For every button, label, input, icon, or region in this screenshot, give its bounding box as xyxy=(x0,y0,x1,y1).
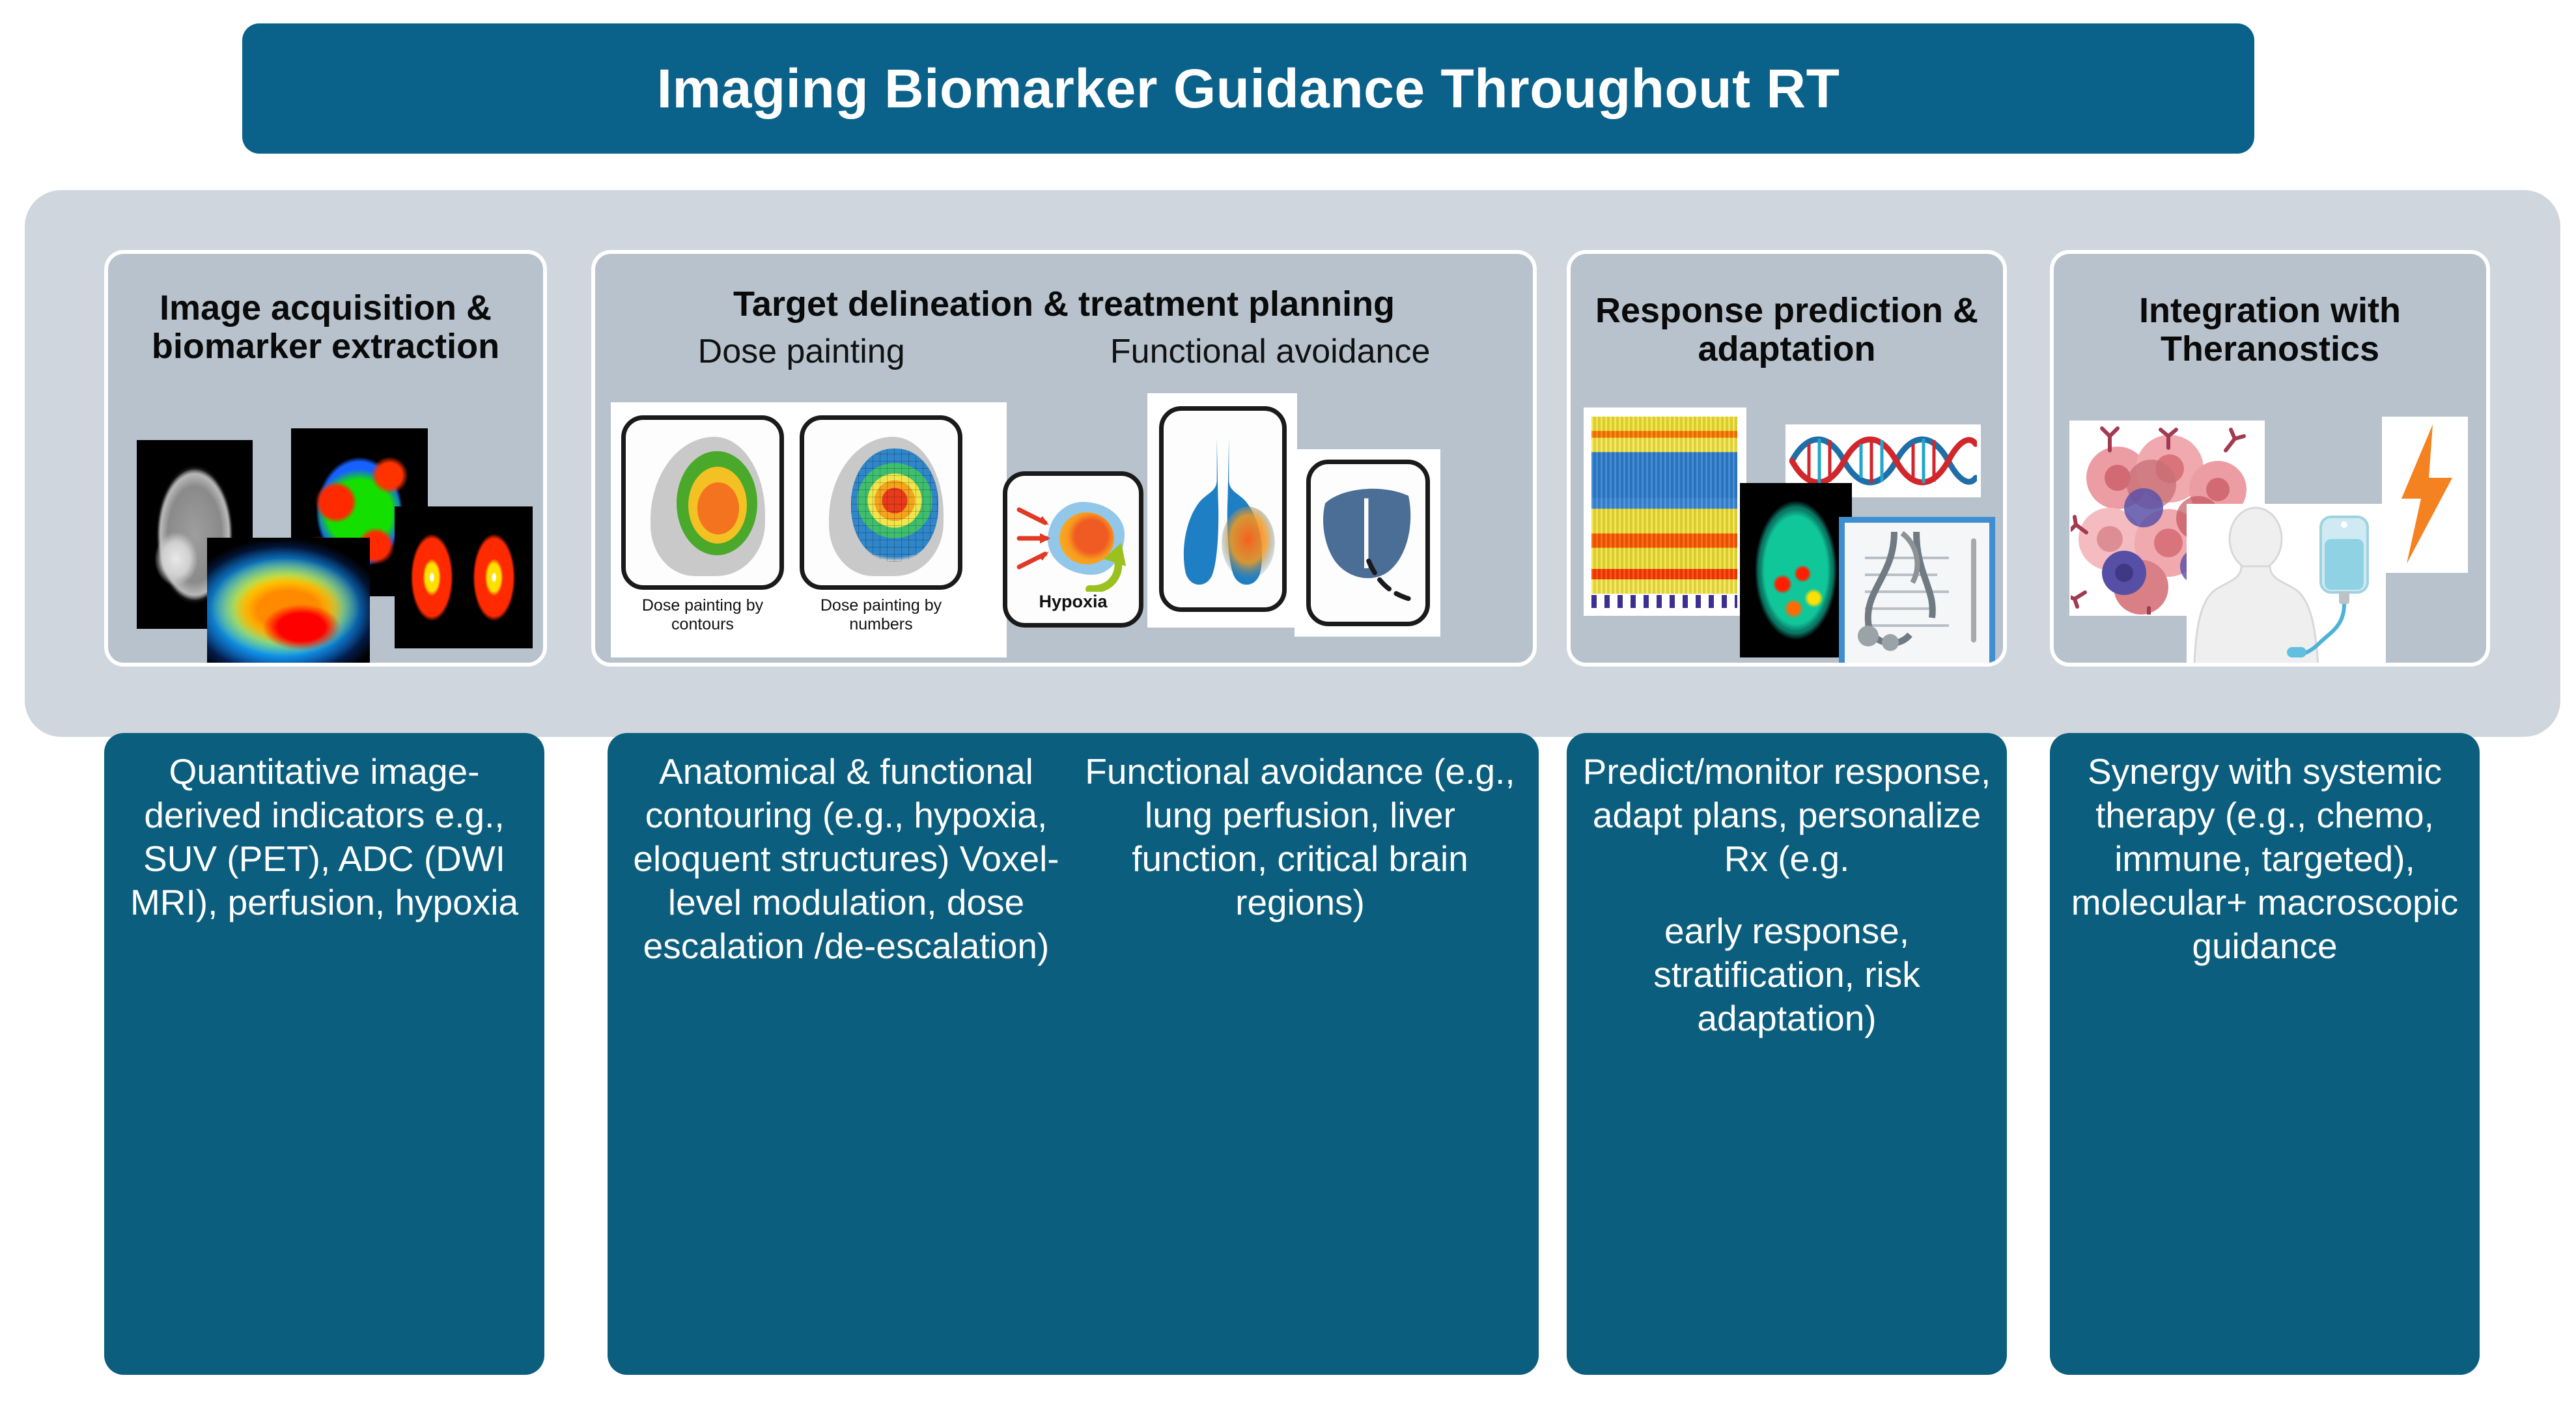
clipboard-stethoscope-icon xyxy=(1839,517,1995,667)
description-box-target-delineation: Anatomical & functional contouring (e.g.… xyxy=(608,733,1539,1375)
liver-function-icon xyxy=(1306,460,1430,626)
stage-subheadings-row: Dose painting Functional avoidance xyxy=(595,332,1533,371)
lung-perfusion-icon xyxy=(1159,406,1287,612)
pet-suv-heatmap-image xyxy=(207,538,370,667)
stage-card-target-delineation: Target delineation & treatment planning … xyxy=(591,250,1537,667)
description-text: Functional avoidance (e.g., lung perfusi… xyxy=(1082,750,1518,924)
page-title: Imaging Biomarker Guidance Throughout RT xyxy=(657,57,1840,120)
tile-caption-dose-painting-contours: Dose painting by contours xyxy=(621,596,784,634)
description-box-theranostics: Synergy with systemic therapy (e.g., che… xyxy=(2050,733,2480,1375)
hypoxia-tumor-icon: Hypoxia xyxy=(1003,471,1143,628)
stage-heading-image-acquisition: Image acquisition & biomarker extraction xyxy=(108,254,543,366)
tile-caption-hypoxia: Hypoxia xyxy=(1039,592,1107,611)
description-column-functional-avoidance: Functional avoidance (e.g., lung perfusi… xyxy=(1073,750,1527,1362)
description-text: Predict/monitor response, adapt plans, p… xyxy=(1578,750,1995,881)
subheading-dose-painting: Dose painting xyxy=(698,332,905,371)
uptake-arrow-icon xyxy=(1080,536,1132,592)
heatmap-annotation-bar xyxy=(1591,595,1737,608)
description-text: Quantitative image-derived indicators e.… xyxy=(116,750,533,924)
description-column-dose-painting: Anatomical & functional contouring (e.g.… xyxy=(619,750,1073,1362)
diagram-title-bar: Imaging Biomarker Guidance Throughout RT xyxy=(242,23,2254,154)
description-text-secondary: early response, stratification, risk ada… xyxy=(1578,909,1995,1040)
patient-infusion-icon xyxy=(2191,505,2385,665)
radiation-bolt-icon xyxy=(2390,422,2461,566)
tile-caption-dose-painting-numbers: Dose painting by numbers xyxy=(800,596,962,634)
description-text: Anatomical & functional contouring (e.g.… xyxy=(628,750,1064,968)
radiomics-heatmap-image xyxy=(1591,417,1737,594)
lung-perfusion-pet-image xyxy=(395,506,533,648)
head-dose-voxel-icon xyxy=(800,415,962,590)
head-dose-contour-icon xyxy=(621,415,784,590)
stage-heading-response-prediction: Response prediction & adaptation xyxy=(1571,254,2003,369)
stage-card-theranostics: Integration with Theranostics xyxy=(2050,250,2490,667)
description-box-response-prediction: Predict/monitor response, adapt plans, p… xyxy=(1567,733,2007,1375)
pet-head-neck-image xyxy=(1740,483,1852,657)
radiation-arrows-icon xyxy=(1015,501,1057,576)
subheading-functional-avoidance: Functional avoidance xyxy=(1110,332,1430,371)
stage-heading-theranostics: Integration with Theranostics xyxy=(2054,254,2486,369)
description-box-image-acquisition: Quantitative image-derived indicators e.… xyxy=(104,733,544,1375)
stage-card-image-acquisition: Image acquisition & biomarker extraction xyxy=(104,250,547,667)
stage-card-response-prediction: Response prediction & adaptation xyxy=(1567,250,2007,667)
description-text: Synergy with systemic therapy (e.g., che… xyxy=(2062,750,2468,968)
stage-heading-target-delineation: Target delineation & treatment planning xyxy=(595,254,1533,324)
